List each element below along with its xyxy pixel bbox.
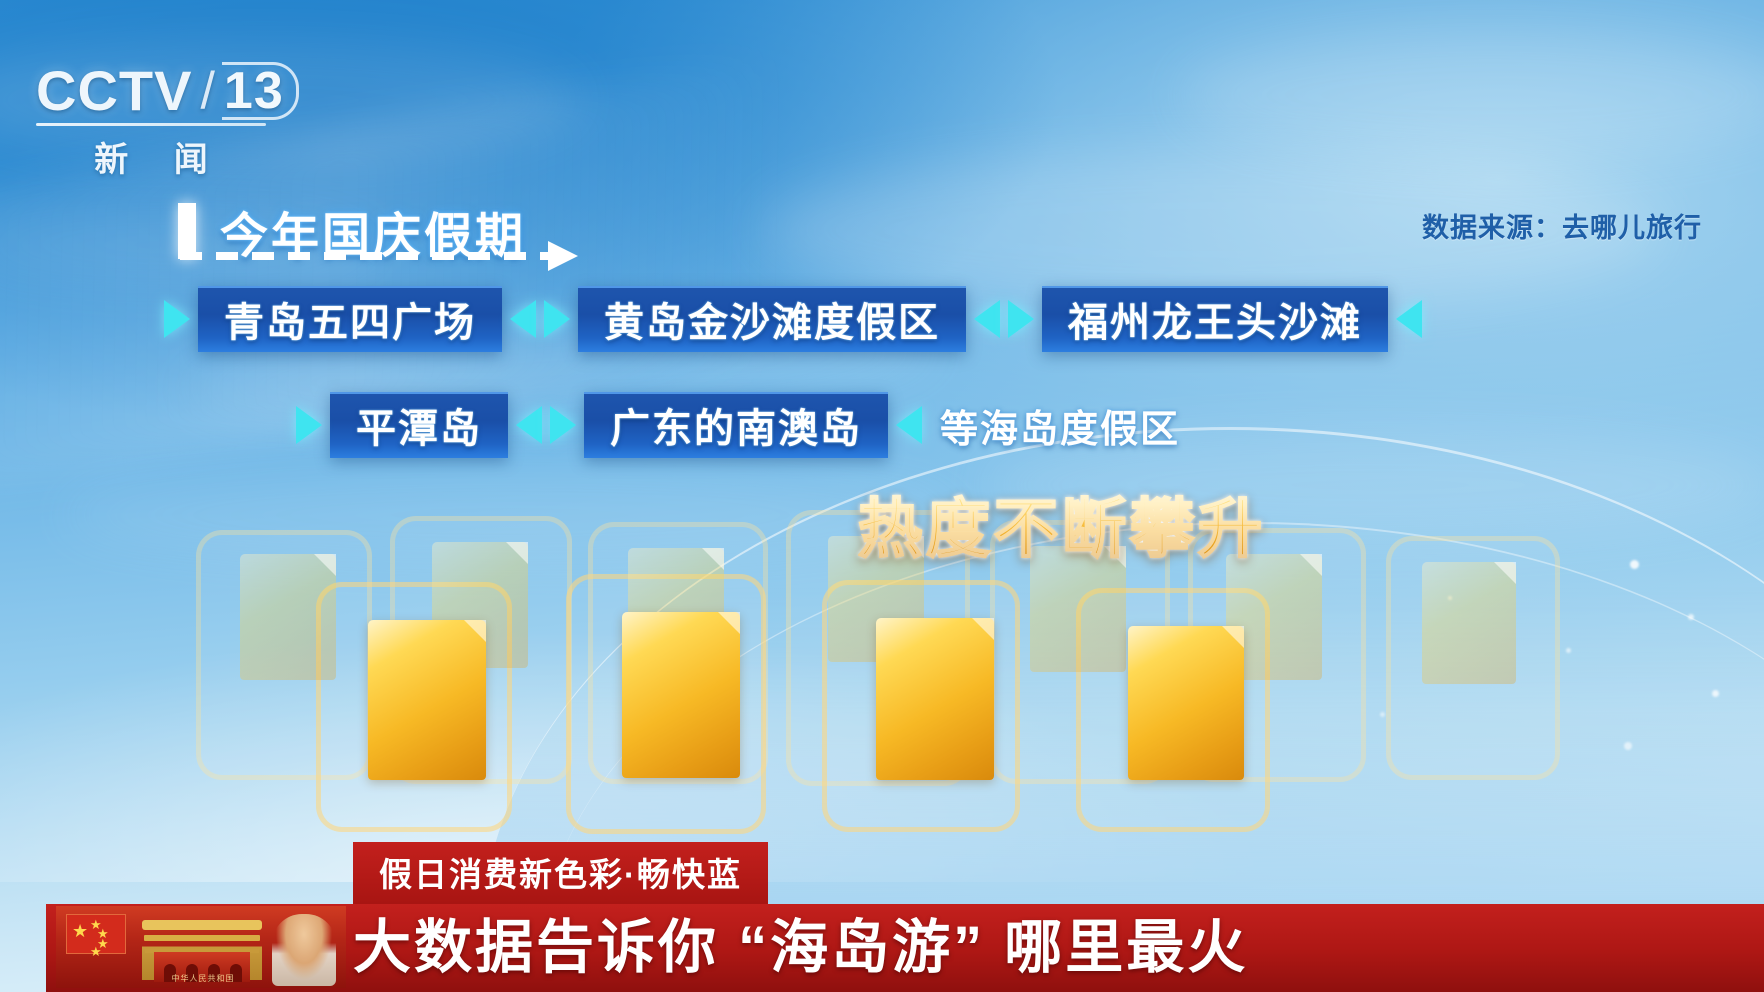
folder-icon	[622, 612, 740, 778]
tag-row-2: 平潭岛 广东的南澳岛 等海岛度假区	[296, 392, 1180, 458]
chevron-right-icon	[550, 406, 576, 444]
broadcast-frame: CCTV / 13 新 闻 数据来源：去哪儿旅行 今年国庆假期 青岛五四广场 黄…	[0, 0, 1764, 992]
tag-etc-island-resorts: 等海岛度假区	[940, 398, 1180, 453]
chevron-left-icon	[974, 300, 1000, 338]
logo-underline	[36, 123, 266, 126]
logo-channel-number: 13	[224, 65, 284, 117]
tag-label: 黄岛金沙滩度假区	[604, 290, 940, 348]
chevron-left-icon	[516, 406, 542, 444]
chevron-right-icon	[296, 406, 322, 444]
lower-third-kicker-strap: 假日消费新色彩·畅快蓝	[353, 842, 768, 904]
lower-third-kicker: 假日消费新色彩·畅快蓝	[379, 856, 742, 893]
emblem-caption: 中华人民共和国	[140, 973, 266, 984]
arrow-right-icon	[548, 241, 578, 271]
folder-icon	[240, 554, 336, 680]
lower-third: ★ ★ ★ ★ ★ 中华人民共和国 假日消费新色彩·畅快蓝 大数据告诉你	[0, 860, 1764, 992]
folder-icon	[1422, 562, 1516, 684]
chevron-left-icon	[1396, 300, 1422, 338]
chevron-right-icon	[1008, 300, 1034, 338]
tag-qingdao-wusi-square[interactable]: 青岛五四广场	[198, 286, 502, 352]
lower-third-title: 大数据告诉你 “海岛游” 哪里最火	[353, 900, 1248, 984]
emblem-figure	[272, 914, 336, 986]
tag-pingtan-island[interactable]: 平潭岛	[330, 392, 508, 458]
logo-slash: /	[200, 65, 215, 117]
folder-icon	[368, 620, 486, 780]
chevron-right-icon	[544, 300, 570, 338]
tag-label: 广东的南澳岛	[610, 396, 862, 454]
tag-label: 青岛五四广场	[224, 290, 476, 348]
tag-label: 平潭岛	[356, 396, 482, 454]
cctv13-logo: CCTV / 13 新 闻	[36, 62, 286, 172]
tag-guangdong-nanao-island[interactable]: 广东的南澳岛	[584, 392, 888, 458]
chevron-right-icon	[164, 300, 190, 338]
tiananmen-emblem: ★ ★ ★ ★ ★ 中华人民共和国	[56, 906, 346, 988]
tag-row-1: 青岛五四广场 黄岛金沙滩度假区 福州龙王头沙滩	[164, 286, 1422, 352]
data-source-label: 数据来源：去哪儿旅行	[1422, 206, 1702, 245]
tiananmen-gate-icon	[142, 910, 262, 980]
headline-accent-bar	[178, 203, 196, 259]
tag-fuzhou-longwangtou-beach[interactable]: 福州龙王头沙滩	[1042, 286, 1388, 352]
dashed-connector-line	[180, 252, 576, 260]
slogan-heat-rising: 热度不断攀升	[858, 478, 1266, 570]
folder-icon	[876, 618, 994, 780]
tag-label: 福州龙王头沙滩	[1068, 290, 1362, 348]
logo-cctv-text: CCTV	[36, 63, 192, 119]
china-flag-icon: ★ ★ ★ ★ ★	[66, 914, 126, 954]
chevron-left-icon	[896, 406, 922, 444]
chevron-left-icon	[510, 300, 536, 338]
tag-huangdao-jinshatan-resort[interactable]: 黄岛金沙滩度假区	[578, 286, 966, 352]
folder-icon	[1128, 626, 1244, 780]
logo-subtitle: 新 闻	[36, 132, 266, 181]
